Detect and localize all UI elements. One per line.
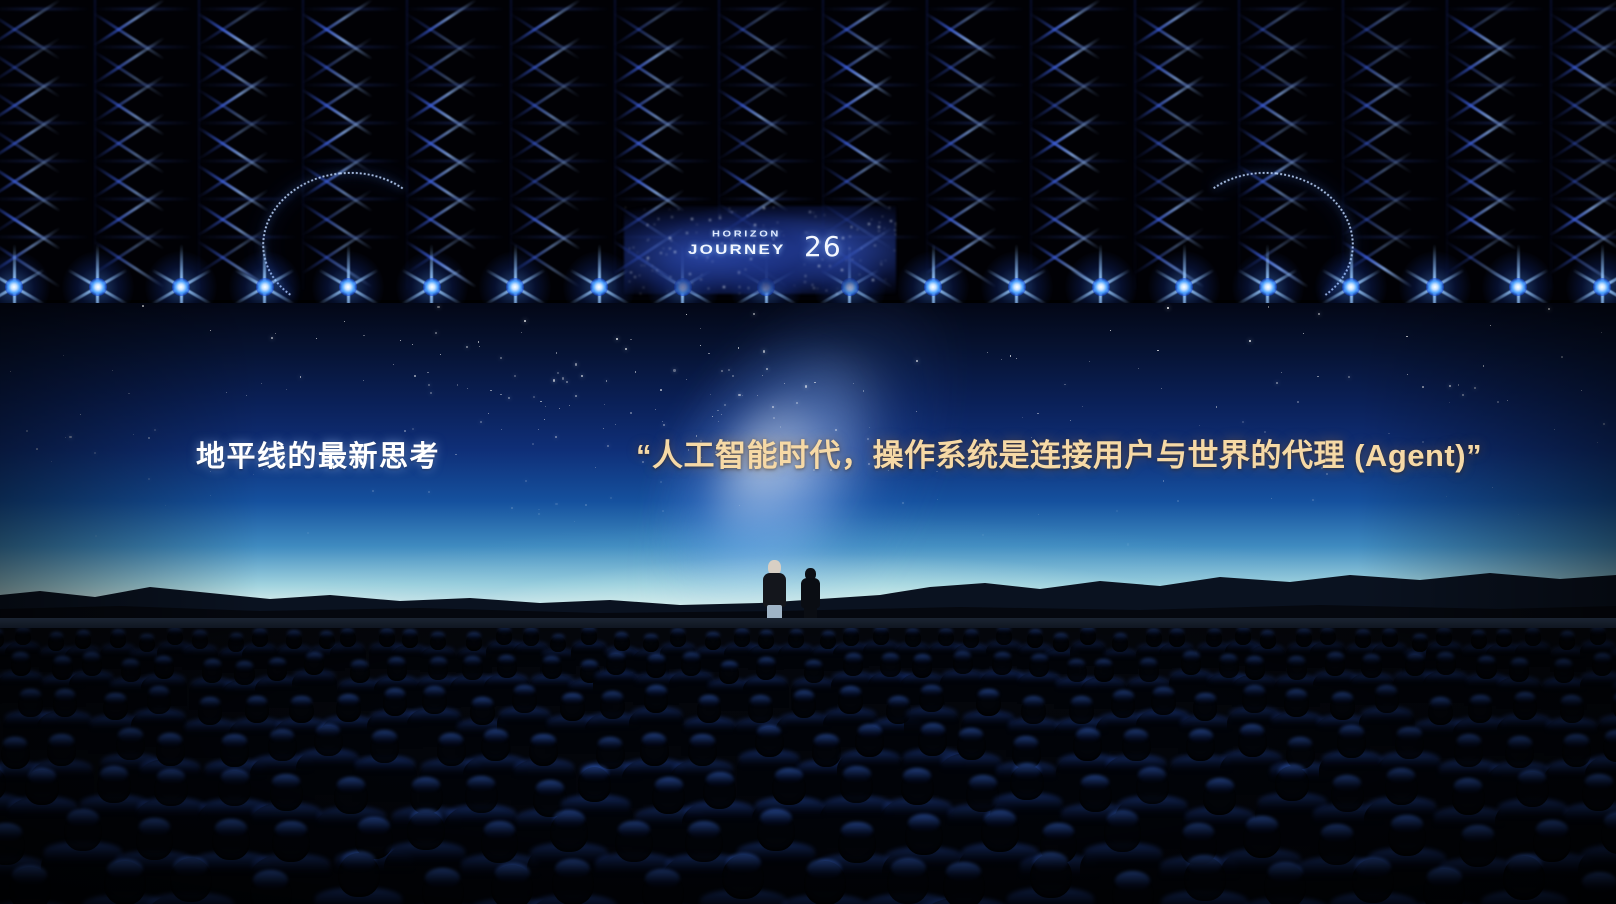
- audience-head: [918, 725, 947, 756]
- logo-star-speck: [809, 211, 811, 213]
- star-speck: [581, 375, 583, 377]
- star-speck: [556, 352, 558, 354]
- star-speck: [525, 480, 527, 482]
- audience-head: [606, 654, 626, 675]
- audience-head: [334, 779, 367, 814]
- star-speck: [1497, 401, 1499, 403]
- truss-zigzag-light: [1341, 36, 1413, 84]
- star-speck: [545, 406, 546, 407]
- star-speck: [363, 380, 364, 381]
- stage-star-light: [1518, 287, 1520, 289]
- logo-star-speck: [643, 287, 644, 288]
- star-light-core: [1593, 278, 1611, 296]
- star-speck: [763, 350, 765, 352]
- audience-head: [1136, 769, 1169, 804]
- audience-head: [1169, 630, 1185, 647]
- star-speck: [1318, 313, 1320, 315]
- stage-star-light: [1101, 287, 1103, 289]
- logo-star-speck: [723, 286, 725, 288]
- audience-head: [466, 634, 482, 651]
- audience-head: [1471, 632, 1487, 649]
- logo-star-speck: [640, 293, 641, 294]
- audience-head: [407, 811, 445, 851]
- logo-star-speck: [700, 279, 701, 280]
- star-speck: [372, 490, 374, 492]
- logo-star-speck: [837, 288, 838, 289]
- audience-head: [1516, 772, 1549, 807]
- star-speck: [718, 421, 719, 422]
- audience-head: [1352, 859, 1394, 903]
- audience-head: [121, 661, 141, 682]
- audience-head: [512, 687, 537, 713]
- star-speck: [412, 428, 414, 430]
- star-speck: [300, 376, 302, 378]
- star-speck: [1406, 336, 1408, 338]
- star-speck: [544, 419, 545, 420]
- truss-zigzag-light: [1445, 74, 1517, 122]
- audience-head: [314, 726, 343, 757]
- star-speck: [1037, 413, 1038, 414]
- star-speck: [916, 411, 917, 412]
- stage-star-light: [599, 287, 601, 289]
- logo-star-speck: [634, 276, 636, 278]
- audience-head: [697, 697, 722, 723]
- star-speck: [142, 305, 144, 307]
- audience-head: [1029, 656, 1049, 677]
- audience-head: [705, 634, 721, 651]
- audience-head: [734, 630, 750, 647]
- star-speck: [780, 426, 782, 428]
- audience-head: [1554, 661, 1574, 682]
- logo-star-speck: [777, 222, 778, 223]
- logo-star-speck: [883, 233, 884, 234]
- audience-head: [1203, 780, 1236, 815]
- audience-head: [643, 636, 659, 653]
- star-speck: [607, 445, 609, 447]
- audience-head: [722, 855, 764, 899]
- audience-head: [104, 861, 146, 904]
- logo-star-speck: [894, 229, 896, 231]
- audience-head: [18, 691, 43, 717]
- audience-head: [340, 630, 356, 647]
- audience-head: [600, 693, 625, 719]
- star-speck: [595, 467, 596, 468]
- audience-head: [1382, 630, 1398, 647]
- star-speck: [559, 408, 560, 409]
- star-speck: [1312, 499, 1314, 501]
- star-speck: [663, 424, 665, 426]
- truss-zigzag-light: [717, 112, 789, 160]
- truss-zigzag-light: [1549, 150, 1616, 198]
- star-speck: [575, 395, 577, 397]
- star-speck: [36, 448, 38, 450]
- audience-head: [139, 636, 155, 653]
- truss-column: [926, 0, 1030, 290]
- stage-star-light: [348, 287, 350, 289]
- truss-zigzag-light: [925, 0, 997, 47]
- audience-head: [1559, 633, 1575, 650]
- truss-zigzag-light: [1445, 112, 1517, 160]
- logo-star-speck: [812, 284, 814, 286]
- star-speck: [728, 369, 730, 371]
- stage-star-light: [1602, 287, 1604, 289]
- audience-head: [755, 727, 784, 758]
- audience-head: [9, 867, 51, 904]
- star-speck: [1297, 401, 1299, 403]
- star-speck: [616, 338, 618, 340]
- logo-star-speck: [763, 283, 764, 284]
- audience-head: [1206, 630, 1222, 647]
- truss-zigzag-light: [301, 36, 373, 84]
- star-speck: [210, 495, 212, 497]
- audience-head: [1111, 692, 1136, 718]
- star-speck: [412, 344, 413, 345]
- logo-star-speck: [674, 251, 676, 253]
- audience-head: [1388, 817, 1426, 857]
- audience-head: [1582, 776, 1615, 811]
- star-speck: [1242, 421, 1244, 423]
- star-speck: [604, 404, 605, 405]
- screen-quote: “人工智能时代，操作系统是连接用户与世界的代理 (Agent)”: [636, 430, 1482, 475]
- star-speck: [435, 332, 437, 334]
- logo-star-speck: [881, 261, 882, 262]
- audience-head: [1238, 726, 1267, 757]
- star-speck: [721, 414, 723, 416]
- audience-head: [1533, 822, 1571, 862]
- audience-head: [873, 628, 889, 645]
- audience-head: [1452, 780, 1485, 815]
- star-speck: [625, 348, 627, 350]
- logo-star-speck: [805, 275, 806, 276]
- star-light-core: [1092, 278, 1110, 296]
- star-speck: [655, 409, 656, 410]
- audience-head: [1094, 661, 1114, 682]
- audience-head: [289, 698, 314, 724]
- logo-star-speck: [739, 293, 740, 294]
- audience-head: [286, 632, 302, 649]
- audience-head: [422, 870, 464, 904]
- audience-head: [470, 699, 495, 725]
- logo-star-speck: [671, 240, 672, 241]
- star-speck: [271, 337, 273, 339]
- audience-head: [1436, 654, 1456, 675]
- audience-head: [402, 631, 418, 648]
- star-speck: [1268, 306, 1269, 307]
- star-speck: [1163, 480, 1164, 481]
- star-speck: [428, 384, 430, 386]
- audience-head: [11, 654, 31, 675]
- logo-star-speck: [885, 260, 886, 261]
- star-speck: [1177, 500, 1179, 502]
- audience-head: [640, 735, 669, 766]
- audience-head: [234, 663, 254, 684]
- audience-head: [1296, 630, 1312, 647]
- audience-head: [1337, 727, 1366, 758]
- star-speck: [805, 385, 807, 387]
- audience-head: [167, 629, 183, 646]
- audience-head: [581, 628, 597, 645]
- star-speck: [863, 390, 865, 392]
- logo-star-speck: [836, 293, 838, 294]
- star-speck: [721, 370, 723, 372]
- star-speck: [488, 413, 489, 414]
- audience-head: [840, 768, 873, 803]
- audience-head: [1405, 655, 1425, 676]
- star-speck: [286, 389, 287, 390]
- star-speck: [10, 371, 11, 372]
- truss-zigzag-light: [509, 0, 581, 47]
- star-speck: [606, 380, 608, 382]
- truss-zigzag-light: [1133, 74, 1205, 122]
- star-speck: [566, 381, 568, 383]
- star-speck: [393, 364, 394, 365]
- star-light-core: [1008, 278, 1026, 296]
- star-speck: [1010, 355, 1012, 357]
- audience-head: [1112, 873, 1154, 904]
- logo-star-speck: [654, 224, 655, 225]
- star-speck: [1449, 385, 1451, 387]
- logo-star-speck: [754, 224, 756, 226]
- audience-head: [245, 698, 270, 724]
- logo-star-speck: [691, 218, 693, 220]
- star-speck: [478, 341, 480, 343]
- audience-head: [52, 658, 72, 679]
- audience-head: [110, 631, 126, 648]
- star-speck: [710, 394, 711, 395]
- audience-head: [642, 871, 684, 904]
- star-speck: [275, 333, 276, 334]
- stage-star-light: [515, 287, 517, 289]
- star-speck: [128, 393, 130, 395]
- logo-star-speck: [692, 283, 693, 284]
- truss-zigzag-light: [1237, 36, 1309, 84]
- logo-brand-text: HORIZON: [712, 229, 781, 238]
- logo-star-speck: [889, 207, 890, 208]
- star-speck: [514, 375, 516, 377]
- star-speck: [1216, 406, 1218, 408]
- audience-head: [383, 690, 408, 716]
- audience-head: [1181, 653, 1201, 674]
- logo-star-speck: [817, 288, 818, 289]
- truss-zigzag-light: [509, 188, 581, 236]
- audience-head: [1428, 699, 1453, 725]
- star-speck: [1554, 429, 1555, 430]
- audience-head: [652, 779, 685, 814]
- truss-zigzag-light: [197, 74, 269, 122]
- star-speck: [430, 392, 432, 394]
- star-speck: [154, 429, 156, 431]
- truss-zigzag-light: [1133, 112, 1205, 160]
- star-speck: [773, 417, 775, 419]
- star-speck: [26, 430, 28, 432]
- star-speck: [1597, 442, 1598, 443]
- logo-star-speck: [872, 279, 874, 281]
- audience-head: [1423, 869, 1465, 904]
- star-speck: [455, 454, 457, 456]
- truss-zigzag-light: [1549, 112, 1616, 160]
- star-speck: [700, 328, 702, 330]
- audience-head: [838, 688, 863, 714]
- audience-head: [387, 659, 407, 680]
- audience-head: [1080, 628, 1096, 645]
- audience-head: [1361, 656, 1381, 677]
- logo-star-speck: [628, 252, 629, 253]
- stage-star-light: [98, 287, 100, 289]
- logo-star-speck: [763, 207, 765, 209]
- logo-star-speck: [666, 254, 667, 255]
- audience-head: [542, 658, 562, 679]
- audience-head: [465, 778, 498, 813]
- truss-zigzag-light: [613, 0, 685, 47]
- truss-zigzag-light: [925, 188, 997, 236]
- logo-star-speck: [639, 275, 640, 276]
- truss-zigzag-light: [405, 36, 477, 84]
- logo-star-speck: [644, 265, 646, 267]
- logo-star-speck: [701, 274, 702, 275]
- truss-zigzag-light: [1445, 36, 1517, 84]
- star-light-core: [590, 278, 608, 296]
- star-speck: [1492, 487, 1493, 488]
- truss-zigzag-light: [821, 74, 893, 122]
- truss-zigzag-light: [197, 36, 269, 84]
- star-speck: [708, 353, 710, 355]
- audience-head: [838, 824, 876, 864]
- logo-star-speck: [658, 218, 660, 220]
- audience-head: [1513, 694, 1538, 720]
- truss-zigzag-light: [1029, 188, 1101, 236]
- audience-head: [116, 730, 145, 761]
- truss-zigzag-light: [1133, 0, 1205, 47]
- logo-star-speck: [647, 257, 649, 259]
- logo-star-speck: [739, 286, 741, 288]
- audience-head: [1318, 826, 1356, 866]
- audience-head: [1104, 812, 1142, 852]
- logo-star-speck: [878, 230, 880, 232]
- audience-head: [1320, 629, 1336, 646]
- logo-star-speck: [644, 209, 646, 211]
- truss-zigzag-light: [821, 112, 893, 160]
- truss-zigzag-light: [821, 0, 893, 47]
- star-speck: [500, 394, 502, 396]
- truss-zigzag-light: [1237, 0, 1309, 47]
- logo-star-speck: [764, 289, 765, 290]
- audience-head: [523, 629, 539, 646]
- star-light-core: [256, 278, 274, 296]
- star-speck: [427, 372, 429, 374]
- audience-head: [1122, 731, 1151, 762]
- star-light-core: [89, 278, 107, 296]
- truss-zigzag-light: [1549, 0, 1616, 47]
- audience-head: [64, 811, 102, 851]
- audience-head: [646, 656, 666, 677]
- audience-head: [758, 632, 774, 649]
- star-speck: [724, 404, 726, 406]
- audience-head: [905, 630, 921, 647]
- audience-head: [202, 661, 222, 682]
- star-speck: [1110, 330, 1111, 331]
- truss-zigzag-light: [405, 0, 477, 47]
- audience-head: [47, 736, 76, 767]
- star-speck: [1064, 384, 1066, 386]
- audience-head: [1454, 736, 1483, 767]
- audience-head: [1505, 738, 1534, 769]
- audience-head: [25, 770, 58, 805]
- audience-head: [82, 654, 102, 675]
- audience-head: [336, 696, 361, 722]
- audience-head: [560, 695, 585, 721]
- audience-head: [963, 631, 979, 648]
- logo-star-speck: [669, 248, 670, 249]
- truss-column: [1030, 0, 1134, 290]
- star-light-core: [5, 278, 23, 296]
- stage-star-light: [1268, 287, 1270, 289]
- truss-zigzag-light: [925, 150, 997, 198]
- audience-head: [1525, 629, 1541, 646]
- logo-star-speck: [890, 220, 892, 222]
- truss-zigzag-light: [1133, 36, 1205, 84]
- audience-head: [103, 695, 128, 721]
- truss-zigzag-light: [405, 150, 477, 198]
- truss-zigzag-light: [1029, 112, 1101, 160]
- audience-head: [804, 861, 846, 904]
- truss-zigzag-light: [1029, 150, 1101, 198]
- logo-star-speck: [804, 281, 806, 283]
- star-speck: [533, 396, 535, 398]
- audience-head: [422, 688, 447, 714]
- star-speck: [69, 436, 71, 438]
- speaker-presenter: [762, 560, 786, 622]
- audience-head: [812, 736, 841, 767]
- star-speck: [738, 347, 739, 348]
- star-speck: [524, 320, 526, 322]
- star-speck: [112, 370, 113, 371]
- audience-head: [1375, 687, 1400, 713]
- truss-zigzag-light: [509, 74, 581, 122]
- logo-star-speck: [637, 252, 638, 253]
- audience-head: [644, 687, 669, 713]
- audience-head: [615, 823, 653, 863]
- audience-head: [552, 861, 594, 904]
- logo-star-speck: [752, 212, 754, 214]
- audience-head: [957, 730, 986, 761]
- truss-zigzag-light: [613, 36, 685, 84]
- star-speck: [1167, 307, 1169, 309]
- truss-zigzag-light: [509, 36, 581, 84]
- star-speck: [732, 375, 734, 377]
- star-speck: [65, 437, 67, 439]
- audience-head: [1193, 695, 1218, 721]
- audience-head: [170, 858, 212, 902]
- logo-star-speck: [652, 270, 653, 271]
- logo-star-speck: [894, 250, 895, 251]
- star-speck: [466, 346, 468, 348]
- audience-head: [703, 774, 736, 809]
- logo-star-speck: [747, 215, 749, 217]
- star-speck: [662, 421, 663, 422]
- audience-head: [1021, 698, 1046, 724]
- star-speck: [479, 346, 480, 347]
- star-speck: [853, 383, 854, 384]
- truss-zigzag-light: [1133, 150, 1205, 198]
- audience-head: [1331, 777, 1364, 812]
- audience-head: [212, 821, 250, 861]
- logo-star-speck: [647, 224, 649, 226]
- audience-head: [1245, 658, 1265, 679]
- star-speck: [1348, 376, 1350, 378]
- star-speck: [210, 330, 211, 331]
- logo-star-speck: [671, 216, 673, 218]
- star-speck: [1446, 496, 1447, 497]
